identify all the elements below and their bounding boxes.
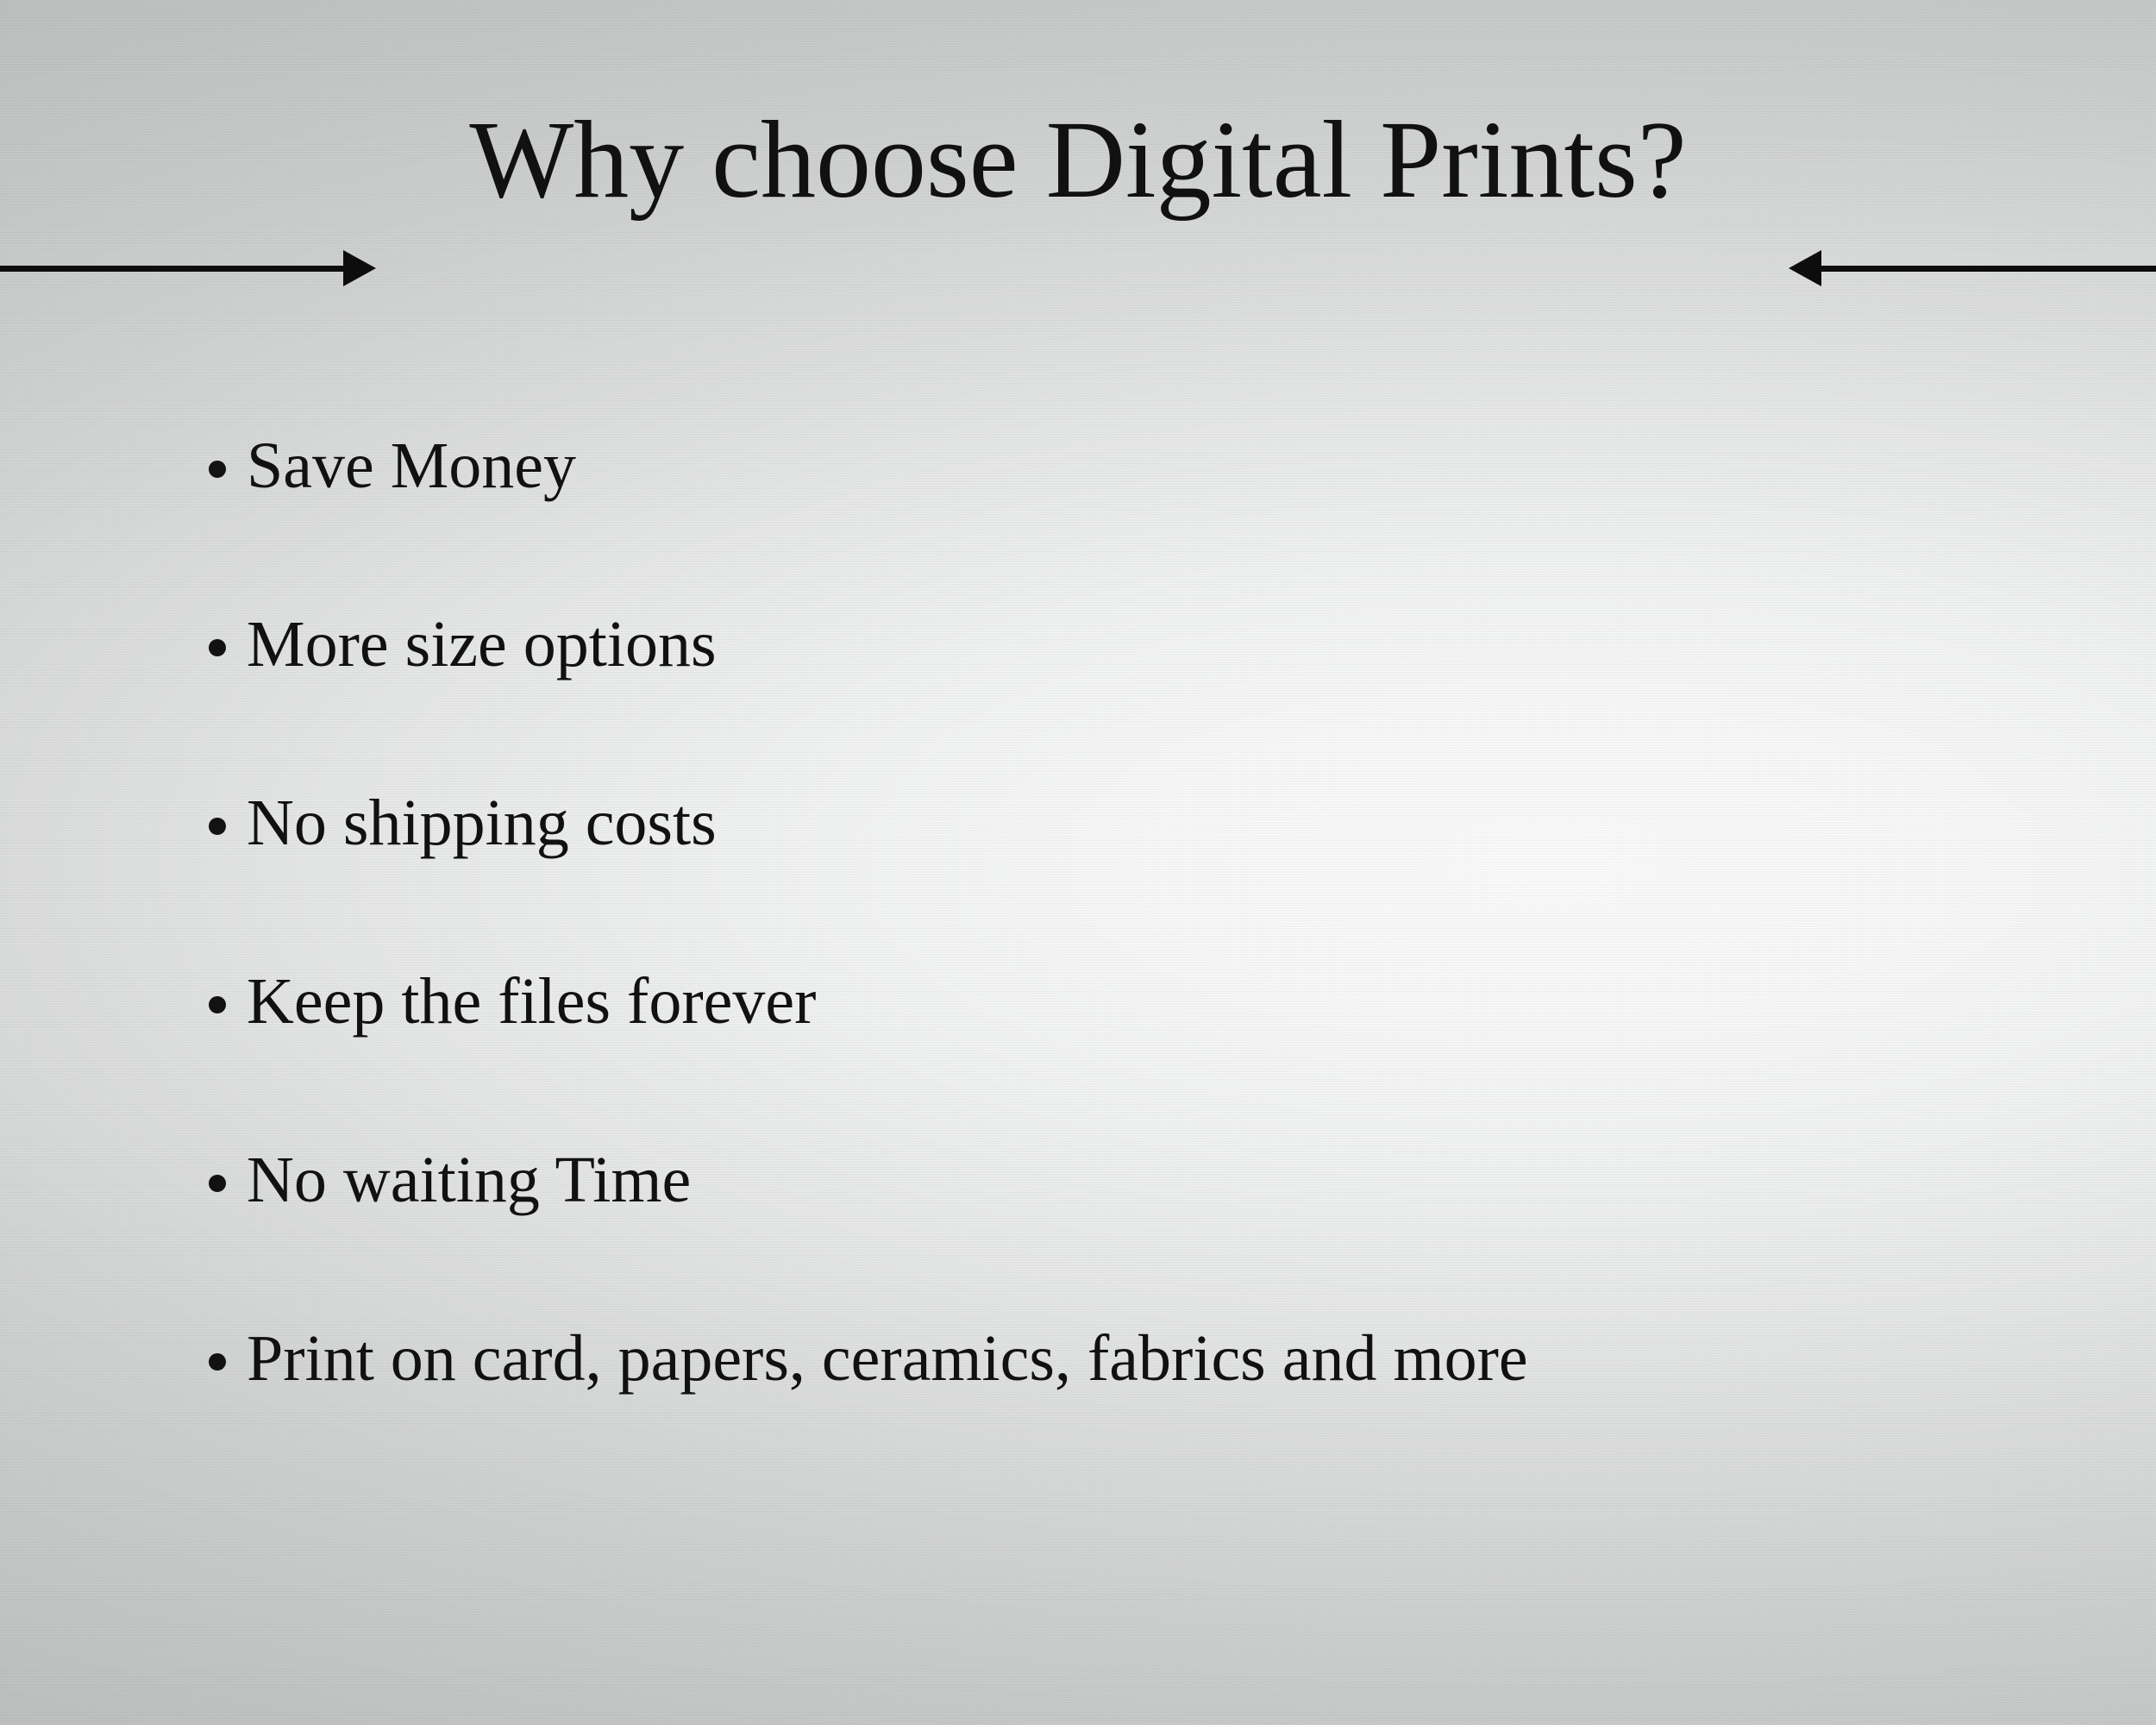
arrow-right-icon	[343, 250, 376, 286]
list-item: Save Money	[205, 424, 2016, 603]
list-item: Keep the files forever	[205, 960, 2016, 1138]
list-item-label: More size options	[247, 603, 717, 686]
bullet-dot-icon	[209, 639, 226, 656]
list-item-label: No waiting Time	[247, 1138, 691, 1221]
list-item: Print on card, papers, ceramics, fabrics…	[205, 1317, 2016, 1496]
left-arrow-line	[0, 266, 345, 272]
list-item-label: Print on card, papers, ceramics, fabrics…	[247, 1317, 1528, 1400]
list-item-label: Save Money	[247, 424, 576, 507]
title-row: Why choose Digital Prints?	[0, 95, 2156, 224]
list-item: No waiting Time	[205, 1138, 2016, 1317]
bullet-dot-icon	[209, 461, 226, 478]
list-item-label: No shipping costs	[247, 781, 717, 864]
arrow-left-icon	[1789, 250, 1821, 286]
right-arrow-line	[1820, 266, 2156, 272]
bullet-dot-icon	[209, 818, 226, 835]
list-item: More size options	[205, 603, 2016, 781]
page-title: Why choose Digital Prints?	[0, 95, 2156, 224]
bullet-dot-icon	[209, 1353, 226, 1371]
list-item-label: Keep the files forever	[247, 960, 816, 1043]
bullet-dot-icon	[209, 1175, 226, 1192]
bullet-dot-icon	[209, 996, 226, 1013]
presentation-slide: Why choose Digital Prints? Save Money Mo…	[0, 0, 2156, 1725]
bullet-list: Save Money More size options No shipping…	[205, 424, 2016, 1496]
list-item: No shipping costs	[205, 781, 2016, 960]
